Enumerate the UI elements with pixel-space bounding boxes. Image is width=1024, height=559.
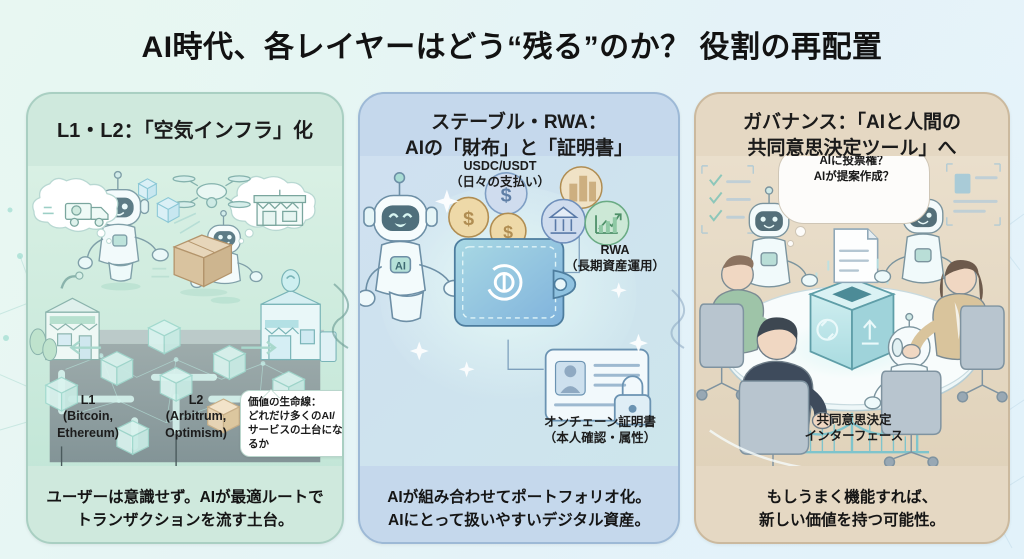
- l1-label: L1 (Bitcoin, Ethereum): [38, 392, 138, 441]
- ballot-box-icon: [811, 278, 894, 369]
- panel-governance: ガバナンス：「AIと人間の 共同意思決定ツール」へ: [694, 92, 1010, 544]
- panel-1-illustration: L1 (Bitcoin, Ethereum) L2 (Arbitrum, Opt…: [28, 166, 342, 466]
- rwa-label: RWA （長期資産運用）: [550, 242, 678, 275]
- panel-layer-infra: L1・L2：「空気インフラ」化: [26, 92, 344, 544]
- decision-interface-label: 共同意思決定 インターフェース: [774, 412, 934, 445]
- ballot-paper-icon: [834, 229, 877, 282]
- bank-icon: [542, 199, 585, 242]
- thought-bubble-dot: [795, 226, 806, 237]
- l2-label: L2 (Arbitrum, Optimism): [146, 392, 246, 441]
- svg-text:$: $: [463, 208, 474, 230]
- ai-voting-thought-bubble: AIに投票権？ AIが提案作成？: [778, 156, 930, 224]
- coin-dollar-icon: $: [449, 197, 489, 237]
- panel-3-heading: ガバナンス：「AIと人間の 共同意思決定ツール」へ: [696, 94, 1008, 161]
- panel-3-footer: もしうまく機能すれば、 新しい価値を持つ可能性。: [696, 487, 1008, 532]
- connector-1-2: [330, 280, 366, 352]
- panel-2-illustration: AI $ $ $: [360, 156, 678, 466]
- panel-2-heading: ステーブル・RWA： AIの「財布」と「証明書」: [360, 94, 678, 161]
- onchain-credential-label: オンチェーン証明書 （本人確認・属性）: [520, 414, 678, 447]
- value-lifeline-callout: 価値の生命線： どれだけ多くのAI/ サービスの土台になるか: [240, 390, 342, 457]
- panel-stable-rwa: ステーブル・RWA： AIの「財布」と「証明書」: [358, 92, 680, 544]
- svg-text:AI: AI: [395, 261, 406, 273]
- panel-1-heading: L1・L2：「空気インフラ」化: [28, 94, 342, 145]
- connector-2-3: [668, 288, 702, 352]
- growth-chart-icon: [585, 201, 628, 244]
- panel-2-footer: AIが組み合わせてポートフォリオ化。 AIにとって扱いやすいデジタル資産。: [360, 487, 678, 532]
- page-title: AI時代、各レイヤーはどう“残る”のか？ 役割の再配置: [0, 22, 1024, 66]
- panel-3-illustration: AIに投票権？ AIが提案作成？ 共同意思決定 インターフェース: [696, 156, 1008, 466]
- panel-1-footer: ユーザーは意識せず。AIが最適ルートで トランザクションを流す土台。: [28, 487, 342, 532]
- thought-bubble-dot: [787, 240, 794, 247]
- usdc-usdt-label: USDC/USDT （日々の支払い）: [420, 158, 580, 191]
